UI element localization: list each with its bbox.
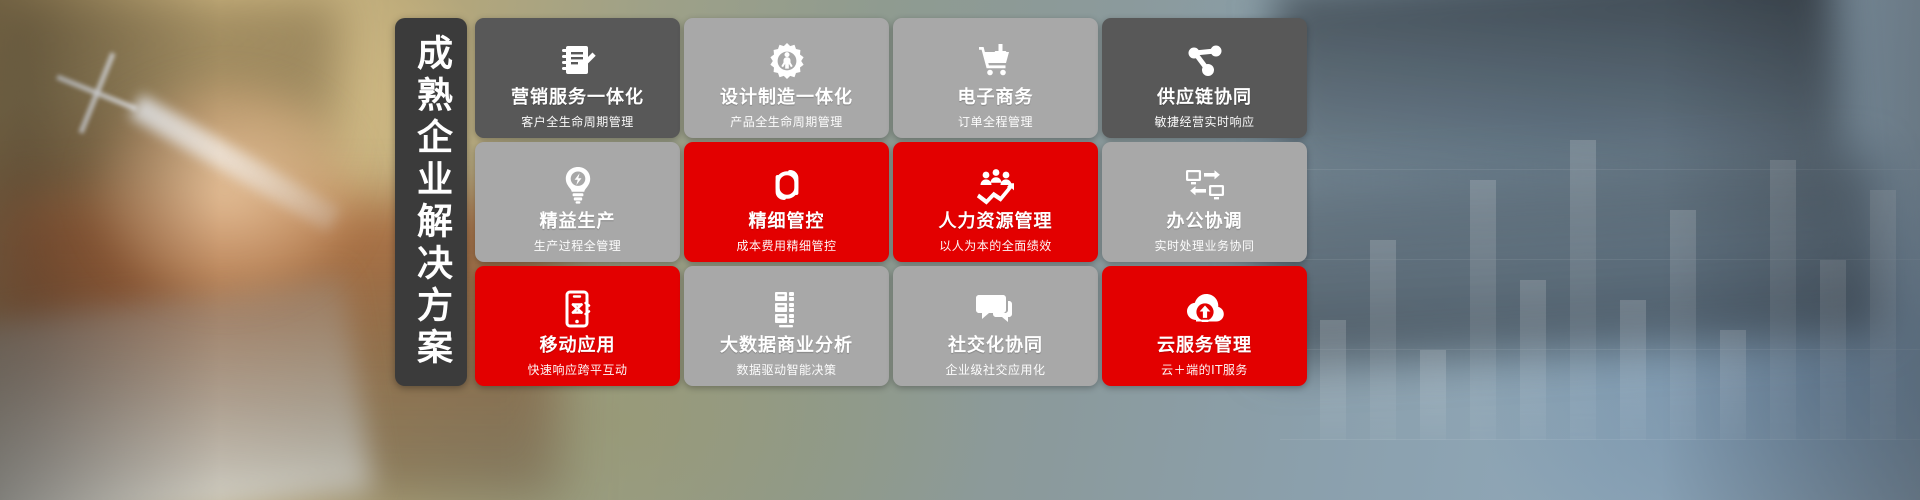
card-title: 云服务管理: [1157, 336, 1252, 356]
card-subtitle: 产品全生命周期管理: [730, 113, 843, 130]
card-title: 社交化协同: [948, 336, 1043, 356]
card-title: 移动应用: [540, 336, 616, 356]
solution-card[interactable]: 云服务管理 云＋端的IT服务: [1102, 266, 1307, 386]
solution-card[interactable]: 供应链协同 敏捷经营实时响应: [1102, 18, 1307, 138]
solution-card[interactable]: 人力资源管理 以人为本的全面绩效: [893, 142, 1098, 262]
solution-card[interactable]: 设计制造一体化 产品全生命周期管理: [684, 18, 889, 138]
left-vignette: [0, 0, 220, 500]
card-subtitle: 客户全生命周期管理: [521, 113, 634, 130]
page-title: 成熟企业解决方案: [413, 34, 449, 370]
solution-card[interactable]: 移动应用 快速响应跨平互动: [475, 266, 680, 386]
card-subtitle: 快速响应跨平互动: [527, 361, 627, 378]
solution-card[interactable]: 大数据商业分析 数据驱动智能决策: [684, 266, 889, 386]
cloud-upload-icon: [1184, 288, 1226, 330]
card-title: 设计制造一体化: [720, 88, 853, 108]
solution-card-grid: 营销服务一体化 客户全生命周期管理 设计制造一体化 产品全生命周期管理: [475, 18, 1307, 386]
card-subtitle: 实时处理业务协同: [1154, 237, 1254, 254]
solution-card[interactable]: 精益生产 生产过程全管理: [475, 142, 680, 262]
card-title: 人力资源管理: [939, 212, 1053, 232]
banner-stage: 成熟企业解决方案: [0, 0, 1920, 500]
solution-card[interactable]: 电子商务 订单全程管理: [893, 18, 1098, 138]
devices-sync-icon: [1184, 164, 1226, 206]
solution-card[interactable]: 社交化协同 企业级社交应用化: [893, 266, 1098, 386]
card-title: 精细管控: [749, 212, 825, 232]
right-vignette: [1660, 0, 1920, 500]
card-subtitle: 敏捷经营实时响应: [1154, 113, 1254, 130]
card-subtitle: 生产过程全管理: [534, 237, 622, 254]
card-title: 办公协调: [1167, 212, 1243, 232]
card-title: 精益生产: [540, 212, 616, 232]
share-nodes-icon: [1185, 40, 1225, 82]
card-subtitle: 成本费用精细管控: [736, 237, 836, 254]
chat-bubbles-icon: [975, 288, 1017, 330]
vertical-title-panel: 成熟企业解决方案: [395, 18, 467, 386]
banner-content: 成熟企业解决方案: [395, 18, 1307, 386]
notepad-pen-icon: [558, 40, 598, 82]
shopping-cart-download-icon: [976, 40, 1016, 82]
people-growth-arrow-icon: [975, 164, 1017, 206]
paperclip-link-icon: [767, 164, 807, 206]
card-title: 营销服务一体化: [511, 88, 644, 108]
gear-person-icon: [767, 40, 807, 82]
card-subtitle: 数据驱动智能决策: [736, 361, 836, 378]
card-title: 供应链协同: [1157, 88, 1252, 108]
server-database-icon: [767, 288, 807, 330]
card-subtitle: 企业级社交应用化: [945, 361, 1045, 378]
card-subtitle: 云＋端的IT服务: [1161, 361, 1248, 378]
mobile-phone-icon: [558, 288, 598, 330]
lightbulb-bolt-icon: [558, 164, 598, 206]
solution-card[interactable]: 精细管控 成本费用精细管控: [684, 142, 889, 262]
solution-card[interactable]: 营销服务一体化 客户全生命周期管理: [475, 18, 680, 138]
card-subtitle: 订单全程管理: [958, 113, 1033, 130]
card-title: 电子商务: [958, 88, 1034, 108]
solution-card[interactable]: 办公协调 实时处理业务协同: [1102, 142, 1307, 262]
card-subtitle: 以人为本的全面绩效: [939, 237, 1052, 254]
card-title: 大数据商业分析: [720, 336, 853, 356]
